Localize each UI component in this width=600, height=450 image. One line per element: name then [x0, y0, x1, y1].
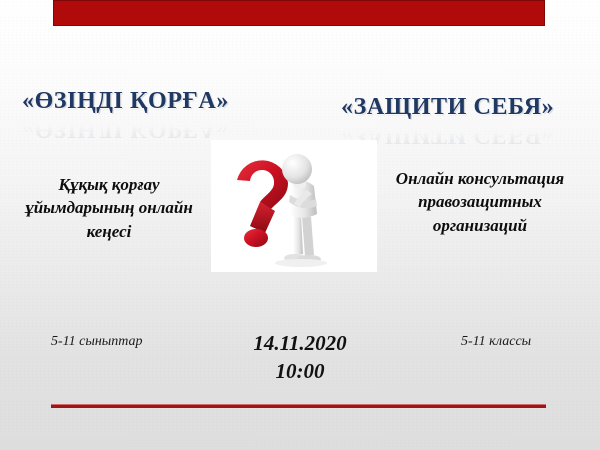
- heading-russian: «ЗАЩИТИ СЕБЯ» «ЗАЩИТИ СЕБЯ»: [341, 94, 554, 121]
- heading-kazakh: «ӨЗІҢДІ ҚОРҒА» «ӨЗІҢДІ ҚОРҒА»: [22, 88, 229, 115]
- bottom-red-rule: [51, 404, 546, 408]
- event-datetime: 14.11.2020 10:00: [210, 330, 390, 385]
- event-time: 10:00: [210, 358, 390, 386]
- body-text-kazakh: Құқық қорғау ұйымдарының онлайн кеңесі: [14, 173, 204, 243]
- top-red-banner: [53, 0, 545, 26]
- presentation-slide: «ӨЗІҢДІ ҚОРҒА» «ӨЗІҢДІ ҚОРҒА» «ЗАЩИТИ СЕ…: [0, 0, 600, 450]
- question-mark-thinking-person-image: [211, 140, 377, 272]
- grade-label-kazakh: 5-11 сыныптар: [51, 334, 143, 350]
- heading-kazakh-text: «ӨЗІҢДІ ҚОРҒА»: [22, 88, 229, 114]
- event-date: 14.11.2020: [210, 330, 390, 358]
- grade-label-russian: 5-11 классы: [461, 334, 531, 350]
- heading-kazakh-reflection: «ӨЗІҢДІ ҚОРҒА»: [22, 115, 229, 142]
- heading-russian-text: «ЗАЩИТИ СЕБЯ»: [341, 94, 554, 120]
- body-text-russian: Онлайн консультация правозащитных органи…: [372, 167, 588, 237]
